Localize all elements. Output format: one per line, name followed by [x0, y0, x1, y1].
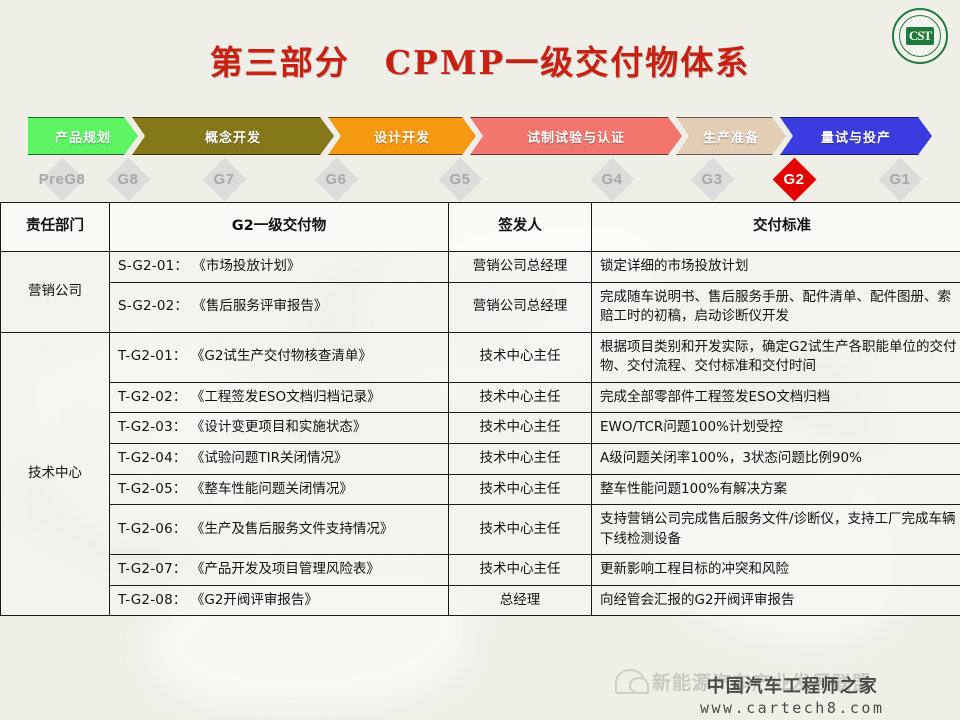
site-url-text: www.cartech8.com: [700, 699, 885, 717]
deliverable-code: T-G2-06：: [118, 521, 187, 537]
cell-deliverable: T-G2-01： 《G2试生产交付物核查清单》: [110, 332, 449, 382]
col-header-standard: 交付标准: [592, 203, 960, 252]
cell-deliverable: T-G2-02： 《工程签发ESO文档归档记录》: [110, 382, 449, 413]
deliverable-name: 《售后服务评审报告》: [188, 298, 327, 314]
table-header-row: 责任部门 G2一级交付物 签发人 交付标准 标识: [1, 203, 960, 252]
table-row: T-G2-02： 《工程签发ESO文档归档记录》技术中心主任完成全部零部件工程签…: [1, 382, 960, 413]
cell-standard: 完成随车说明书、售后服务手册、配件清单、配件图册、索赔工时的初稿，启动诊断仪开发: [592, 282, 960, 332]
cell-signer: 营销公司总经理: [449, 252, 592, 283]
deliverable-code: T-G2-02：: [118, 389, 187, 405]
flow-stage-4[interactable]: 试制试验与认证: [470, 117, 682, 155]
deliverable-name: 《G2试生产交付物核查清单》: [187, 348, 372, 364]
cell-deliverable: T-G2-07： 《产品开发及项目管理风险表》: [110, 555, 449, 586]
cell-department: 技术中心: [1, 332, 110, 616]
table-row: T-G2-04： 《试验问题TIR关闭情况》技术中心主任A级问题关闭率100%，…: [1, 443, 960, 474]
gate-marker-row: PreG8G8G7G6G5G4G3G2G1: [0, 156, 960, 202]
table-head: 责任部门 G2一级交付物 签发人 交付标准 标识: [1, 203, 960, 252]
table-row: T-G2-05： 《整车性能问题关闭情况》技术中心主任整车性能问题100%有解决…: [1, 474, 960, 505]
gate-label: G6: [325, 171, 346, 188]
table-row: T-G2-07： 《产品开发及项目管理风险表》技术中心主任更新影响工程目标的冲突…: [1, 555, 960, 586]
col-header-deliverable: G2一级交付物: [110, 203, 449, 252]
deliverable-name: 《市场投放计划》: [188, 258, 300, 274]
gate-label: G5: [449, 171, 470, 188]
deliverable-code: T-G2-03：: [118, 419, 187, 435]
col-header-signer: 签发人: [449, 203, 592, 252]
cell-signer: 技术中心主任: [449, 443, 592, 474]
cell-standard: EWO/TCR问题100%计划受控: [592, 413, 960, 444]
deliverable-code: T-G2-04：: [118, 450, 187, 466]
deliverable-name: 《产品开发及项目管理风险表》: [187, 561, 380, 577]
gate-label: G3: [701, 171, 722, 188]
table-row: T-G2-03： 《设计变更项目和实施状态》技术中心主任EWO/TCR问题100…: [1, 413, 960, 444]
cell-deliverable: T-G2-08： 《G2开阀评审报告》: [110, 585, 449, 616]
gate-marker-g1[interactable]: G1: [872, 156, 928, 202]
cell-standard: 向经管会汇报的G2开阀评审报告: [592, 585, 960, 616]
cell-signer: 营销公司总经理: [449, 282, 592, 332]
cell-deliverable: T-G2-06： 《生产及售后服务文件支持情况》: [110, 505, 449, 555]
gate-label: PreG8: [39, 171, 86, 188]
cell-standard: 更新影响工程目标的冲突和风险: [592, 555, 960, 586]
deliverable-name: 《G2开阀评审报告》: [187, 592, 318, 608]
table-row: S-G2-02： 《售后服务评审报告》营销公司总经理完成随车说明书、售后服务手册…: [1, 282, 960, 332]
table-body: 营销公司S-G2-01： 《市场投放计划》营销公司总经理锁定详细的市场投放计划S…: [1, 252, 960, 616]
flow-stage-3[interactable]: 设计开发: [328, 117, 476, 155]
cell-standard: 完成全部零部件工程签发ESO文档归档: [592, 382, 960, 413]
gate-marker-g5[interactable]: G5: [432, 156, 488, 202]
cell-standard: 锁定详细的市场投放计划: [592, 252, 960, 283]
gate-marker-g7[interactable]: G7: [196, 156, 252, 202]
table-row: 技术中心T-G2-01： 《G2试生产交付物核查清单》技术中心主任根据项目类别和…: [1, 332, 960, 382]
deliverable-code: T-G2-05：: [118, 481, 187, 497]
col-header-department: 责任部门: [1, 203, 110, 252]
deliverable-name: 《试验问题TIR关闭情况》: [187, 450, 348, 466]
deliverable-code: T-G2-07：: [118, 561, 187, 577]
gate-marker-g2[interactable]: G2: [766, 156, 822, 202]
wechat-icon: [615, 669, 645, 694]
gate-label: G2: [783, 171, 804, 188]
flow-stage-label: 试制试验与认证: [527, 127, 625, 146]
flow-stage-label: 设计开发: [374, 127, 430, 146]
site-name-cn: 中国汽车工程师之家: [700, 672, 885, 698]
flow-stage-label: 量试与投产: [821, 127, 891, 146]
deliverable-code: T-G2-08：: [118, 592, 187, 608]
deliverable-code: S-G2-02：: [118, 298, 188, 314]
cell-deliverable: T-G2-04： 《试验问题TIR关闭情况》: [110, 443, 449, 474]
cell-deliverable: T-G2-05： 《整车性能问题关闭情况》: [110, 474, 449, 505]
deliverable-name: 《设计变更项目和实施状态》: [187, 419, 367, 435]
table-row: 营销公司S-G2-01： 《市场投放计划》营销公司总经理锁定详细的市场投放计划: [1, 252, 960, 283]
gate-marker-g8[interactable]: G8: [100, 156, 156, 202]
cell-deliverable: S-G2-02： 《售后服务评审报告》: [110, 282, 449, 332]
deliverable-code: S-G2-01：: [118, 258, 188, 274]
gate-marker-preg8[interactable]: PreG8: [34, 156, 90, 202]
cell-signer: 技术中心主任: [449, 332, 592, 382]
cell-standard: 根据项目类别和开发实际，确定G2试生产各职能单位的交付物、交付流程、交付标准和交…: [592, 332, 960, 382]
cell-deliverable: S-G2-01： 《市场投放计划》: [110, 252, 449, 283]
process-flow-band: 产品规划概念开发设计开发试制试验与认证生产准备量试与投产: [28, 117, 932, 155]
flow-stage-label: 生产准备: [703, 127, 759, 146]
gate-marker-g4[interactable]: G4: [584, 156, 640, 202]
flow-stage-label: 概念开发: [205, 127, 261, 146]
cell-signer: 技术中心主任: [449, 555, 592, 586]
gate-label: G8: [117, 171, 138, 188]
cell-standard: 整车性能问题100%有解决方案: [592, 474, 960, 505]
cell-standard: 支持营销公司完成售后服务文件/诊断仪，支持工厂完成车辆下线检测设备: [592, 505, 960, 555]
deliverable-name: 《生产及售后服务文件支持情况》: [187, 521, 394, 537]
flow-stage-6[interactable]: 量试与投产: [780, 117, 932, 155]
gate-label: G4: [601, 171, 622, 188]
gate-marker-g6[interactable]: G6: [308, 156, 364, 202]
gate-label: G1: [889, 171, 910, 188]
cell-department: 营销公司: [1, 252, 110, 333]
flow-stage-1[interactable]: 产品规划: [28, 117, 138, 155]
deliverable-name: 《工程签发ESO文档归档记录》: [187, 389, 381, 405]
page-title: 第三部分 CPMP一级交付物体系: [0, 36, 960, 84]
cell-signer: 总经理: [449, 585, 592, 616]
flow-stage-2[interactable]: 概念开发: [132, 117, 334, 155]
flow-stage-label: 产品规划: [55, 127, 111, 146]
cell-deliverable: T-G2-03： 《设计变更项目和实施状态》: [110, 413, 449, 444]
gate-marker-g3[interactable]: G3: [684, 156, 740, 202]
cell-signer: 技术中心主任: [449, 474, 592, 505]
deliverable-code: T-G2-01：: [118, 348, 187, 364]
cell-standard: A级问题关闭率100%，3状态问题比例90%: [592, 443, 960, 474]
deliverable-name: 《整车性能问题关闭情况》: [187, 481, 353, 497]
gate-label: G7: [213, 171, 234, 188]
site-watermark: 中国汽车工程师之家 www.cartech8.com: [700, 672, 885, 717]
deliverables-table: 责任部门 G2一级交付物 签发人 交付标准 标识 营销公司S-G2-01： 《市…: [0, 202, 960, 616]
cell-signer: 技术中心主任: [449, 382, 592, 413]
flow-stage-5[interactable]: 生产准备: [676, 117, 786, 155]
table-row: T-G2-08： 《G2开阀评审报告》总经理向经管会汇报的G2开阀评审报告: [1, 585, 960, 616]
cell-signer: 技术中心主任: [449, 413, 592, 444]
cell-signer: 技术中心主任: [449, 505, 592, 555]
table-row: T-G2-06： 《生产及售后服务文件支持情况》技术中心主任支持营销公司完成售后…: [1, 505, 960, 555]
